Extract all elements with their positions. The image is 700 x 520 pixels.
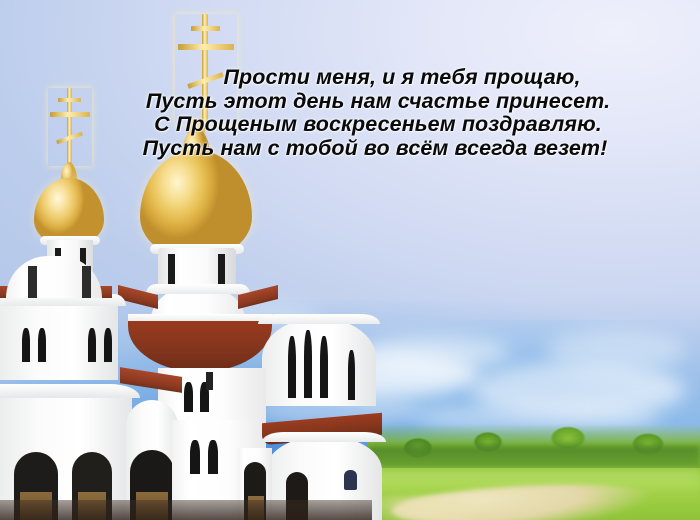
window [38,328,46,362]
tower-cornice [146,284,250,294]
greeting-verse: Прости меня, и я тебя прощаю, Пусть этот… [60,66,696,160]
drum-window [168,254,175,284]
window [320,336,328,398]
window [288,336,296,398]
big-golden-dome [140,150,252,258]
window [82,266,91,298]
right-apse-cornice [258,314,380,324]
foreground-ground [0,500,372,520]
window [348,350,355,400]
roof-ridge [128,314,272,321]
left-upper-wall [0,300,118,380]
window [28,266,37,298]
window [190,440,200,474]
window [206,372,213,390]
verse-line-4: Пусть нам с тобой во всём всегда везет! [60,137,696,161]
window [344,470,357,490]
porch-cornice [262,432,386,442]
verse-line-1: Прости меня, и я тебя прощаю, [60,66,696,90]
window [22,328,30,362]
drum-window [218,254,225,284]
window [304,330,312,398]
right-apse-wall [262,318,376,406]
main-roof [128,316,272,372]
lower-left-cornice [0,384,140,398]
verse-line-3: С Прощеным воскресеньем поздравляю. [60,113,696,137]
window [104,328,112,362]
window [88,328,96,362]
window [184,382,193,412]
verse-line-2: Пусть этот день нам счастье принесет. [60,90,696,114]
window [208,440,218,474]
greeting-card: Прости меня, и я тебя прощаю, Пусть этот… [0,0,700,520]
